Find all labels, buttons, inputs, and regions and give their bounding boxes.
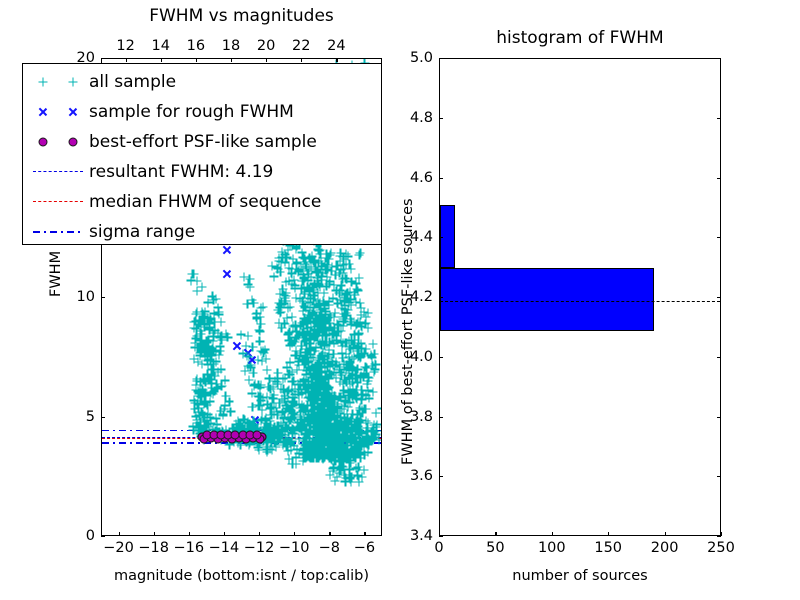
scatter-point-all-sample — [342, 377, 351, 386]
scatter-point-all-sample — [306, 287, 315, 296]
scatter-point-all-sample — [258, 347, 267, 356]
scatter-point-all-sample — [197, 327, 206, 336]
scatter-top-tick — [161, 58, 162, 62]
scatter-point-all-sample — [352, 386, 361, 395]
scatter-point-all-sample — [326, 313, 335, 322]
scatter-point-all-sample — [200, 318, 209, 327]
scatter-point-all-sample — [205, 375, 214, 384]
legend-entry: all sample — [27, 67, 381, 97]
scatter-point-all-sample — [316, 407, 325, 416]
scatter-point-all-sample — [321, 310, 330, 319]
scatter-point-all-sample — [304, 443, 313, 452]
scatter-point-all-sample — [344, 464, 353, 473]
scatter-point-all-sample — [289, 322, 298, 331]
scatter-point-all-sample — [212, 420, 221, 429]
scatter-point-all-sample — [265, 416, 274, 425]
scatter-point-all-sample — [308, 402, 317, 411]
scatter-point-all-sample — [321, 408, 330, 417]
scatter-point-all-sample — [329, 330, 338, 339]
scatter-point-all-sample — [318, 448, 327, 457]
scatter-point-all-sample — [352, 445, 361, 454]
scatter-point-all-sample — [333, 443, 342, 452]
scatter-point-all-sample — [307, 354, 316, 363]
scatter-point-all-sample — [339, 317, 348, 326]
scatter-point-all-sample — [323, 448, 332, 457]
scatter-point-all-sample — [215, 351, 224, 360]
scatter-point-all-sample — [299, 450, 308, 459]
scatter-point-all-sample — [364, 419, 373, 428]
scatter-point-all-sample — [307, 263, 316, 272]
scatter-point-all-sample — [318, 424, 327, 433]
scatter-top-tick-label: 24 — [327, 38, 345, 54]
scatter-point-all-sample — [314, 383, 323, 392]
scatter-point-all-sample — [311, 346, 320, 355]
scatter-point-all-sample — [304, 294, 313, 303]
scatter-point-all-sample — [356, 450, 365, 459]
scatter-point-all-sample — [349, 317, 358, 326]
scatter-point-all-sample — [285, 341, 294, 350]
scatter-point-all-sample — [340, 297, 349, 306]
scatter-point-all-sample — [262, 448, 271, 457]
scatter-point-all-sample — [337, 419, 346, 428]
scatter-point-all-sample — [308, 380, 317, 389]
scatter-point-all-sample — [335, 431, 344, 440]
scatter-point-all-sample — [341, 420, 350, 429]
scatter-point-all-sample — [323, 398, 332, 407]
scatter-point-all-sample — [317, 272, 326, 281]
scatter-point-all-sample — [285, 328, 294, 337]
scatter-point-all-sample — [196, 340, 205, 349]
scatter-point-all-sample — [317, 395, 326, 404]
scatter-point-all-sample — [194, 403, 203, 412]
scatter-point-all-sample — [326, 413, 335, 422]
scatter-point-all-sample — [204, 360, 213, 369]
scatter-point-all-sample — [326, 419, 335, 428]
scatter-point-all-sample — [312, 299, 321, 308]
scatter-point-all-sample — [309, 328, 318, 337]
scatter-point-all-sample — [302, 416, 311, 425]
scatter-point-all-sample — [317, 396, 326, 405]
scatter-point-all-sample — [278, 419, 287, 428]
scatter-point-all-sample — [323, 405, 332, 414]
scatter-point-all-sample — [355, 298, 364, 307]
scatter-point-all-sample — [247, 296, 256, 305]
histogram-y-tick — [439, 417, 443, 418]
scatter-point-all-sample — [287, 269, 296, 278]
scatter-point-all-sample — [327, 371, 336, 380]
scatter-point-all-sample — [357, 385, 366, 394]
scatter-point-all-sample — [262, 415, 271, 424]
scatter-point-all-sample — [300, 450, 309, 459]
scatter-point-all-sample — [204, 346, 213, 355]
scatter-point-all-sample — [193, 400, 202, 409]
scatter-point-all-sample — [304, 417, 313, 426]
scatter-point-all-sample — [321, 374, 330, 383]
scatter-point-all-sample — [265, 445, 274, 454]
scatter-point-all-sample — [315, 358, 324, 367]
scatter-point-all-sample — [331, 424, 340, 433]
scatter-point-all-sample — [307, 401, 316, 410]
scatter-point-all-sample — [195, 351, 204, 360]
scatter-point-all-sample — [326, 248, 335, 257]
scatter-point-all-sample — [340, 305, 349, 314]
scatter-point-all-sample — [329, 360, 338, 369]
scatter-point-all-sample — [235, 419, 244, 428]
scatter-point-all-sample — [312, 409, 321, 418]
scatter-point-all-sample — [305, 339, 314, 348]
scatter-point-all-sample — [318, 454, 327, 463]
scatter-point-all-sample — [327, 266, 336, 275]
scatter-point-all-sample — [298, 277, 307, 286]
scatter-point-all-sample — [305, 254, 314, 263]
scatter-point-all-sample — [259, 394, 268, 403]
scatter-point-all-sample — [343, 387, 352, 396]
scatter-point-all-sample — [205, 318, 214, 327]
scatter-point-all-sample — [333, 473, 342, 482]
scatter-point-all-sample — [339, 268, 348, 277]
scatter-point-all-sample — [356, 318, 365, 327]
scatter-point-all-sample — [256, 397, 265, 406]
scatter-point-all-sample — [315, 312, 324, 321]
scatter-point-all-sample — [308, 255, 317, 264]
scatter-point-all-sample — [192, 277, 201, 286]
scatter-point-all-sample — [341, 250, 350, 259]
scatter-point-all-sample — [225, 397, 234, 406]
scatter-point-all-sample — [322, 373, 331, 382]
scatter-point-all-sample — [341, 421, 350, 430]
scatter-point-all-sample — [209, 332, 218, 341]
scatter-point-all-sample — [288, 413, 297, 422]
scatter-point-all-sample — [197, 407, 206, 416]
scatter-point-all-sample — [284, 427, 293, 436]
scatter-point-all-sample — [352, 321, 361, 330]
scatter-point-all-sample — [360, 405, 369, 414]
scatter-point-all-sample — [306, 407, 315, 416]
scatter-point-all-sample — [303, 324, 312, 333]
scatter-point-all-sample — [315, 246, 324, 255]
scatter-point-all-sample — [325, 251, 334, 260]
scatter-point-all-sample — [292, 459, 301, 468]
scatter-point-all-sample — [310, 333, 319, 342]
scatter-point-all-sample — [322, 388, 331, 397]
scatter-point-all-sample — [321, 380, 330, 389]
scatter-point-all-sample — [315, 444, 324, 453]
scatter-point-all-sample — [189, 270, 198, 279]
scatter-point-all-sample — [317, 372, 326, 381]
scatter-point-all-sample — [322, 450, 331, 459]
scatter-point-all-sample — [322, 282, 331, 291]
scatter-point-all-sample — [346, 375, 355, 384]
scatter-point-all-sample — [342, 338, 351, 347]
scatter-point-all-sample — [306, 294, 315, 303]
scatter-point-all-sample — [352, 393, 361, 402]
scatter-point-all-sample — [363, 386, 372, 395]
scatter-point-all-sample — [302, 353, 311, 362]
scatter-point-all-sample — [315, 328, 324, 337]
scatter-point-all-sample — [321, 391, 330, 400]
scatter-point-all-sample — [315, 280, 324, 289]
scatter-point-all-sample — [324, 279, 333, 288]
scatter-point-all-sample — [328, 448, 337, 457]
scatter-point-all-sample — [287, 313, 296, 322]
scatter-point-all-sample — [364, 374, 373, 383]
scatter-point-all-sample — [319, 413, 328, 422]
scatter-point-all-sample — [301, 287, 310, 296]
scatter-point-all-sample — [354, 418, 363, 427]
scatter-point-all-sample — [311, 374, 320, 383]
scatter-point-all-sample — [300, 314, 309, 323]
scatter-point-all-sample — [276, 268, 285, 277]
scatter-point-all-sample — [320, 362, 329, 371]
scatter-x-tick — [154, 532, 155, 536]
scatter-point-all-sample — [215, 427, 224, 436]
scatter-point-all-sample — [290, 409, 299, 418]
scatter-point-all-sample — [317, 322, 326, 331]
scatter-point-all-sample — [262, 392, 271, 401]
scatter-point-all-sample — [229, 424, 238, 433]
scatter-point-all-sample — [330, 392, 339, 401]
scatter-point-all-sample — [309, 256, 318, 265]
scatter-point-all-sample — [338, 449, 347, 458]
scatter-point-all-sample — [305, 298, 314, 307]
scatter-point-all-sample — [214, 307, 223, 316]
scatter-point-all-sample — [253, 443, 262, 452]
scatter-point-all-sample — [309, 257, 318, 266]
scatter-point-all-sample — [314, 403, 323, 412]
scatter-point-all-sample — [211, 357, 220, 366]
scatter-point-all-sample — [344, 452, 353, 461]
scatter-point-all-sample — [204, 326, 213, 335]
scatter-point-all-sample — [203, 400, 212, 409]
scatter-point-all-sample — [307, 454, 316, 463]
scatter-point-all-sample — [341, 293, 350, 302]
scatter-point-all-sample — [322, 390, 331, 399]
scatter-point-all-sample — [314, 443, 323, 452]
filled-circle-icon — [39, 138, 48, 147]
scatter-point-all-sample — [317, 450, 326, 459]
scatter-point-all-sample — [317, 276, 326, 285]
scatter-point-all-sample — [315, 305, 324, 314]
scatter-point-all-sample — [316, 354, 325, 363]
scatter-point-all-sample — [311, 414, 320, 423]
scatter-point-all-sample — [296, 294, 305, 303]
scatter-point-all-sample — [298, 415, 307, 424]
scatter-point-all-sample — [263, 445, 272, 454]
scatter-point-all-sample — [201, 307, 210, 316]
scatter-point-all-sample — [199, 340, 208, 349]
scatter-point-all-sample — [343, 418, 352, 427]
scatter-point-all-sample — [352, 342, 361, 351]
scatter-top-tick — [336, 58, 337, 62]
scatter-point-all-sample — [315, 405, 324, 414]
scatter-point-all-sample — [310, 399, 319, 408]
scatter-point-all-sample — [313, 273, 322, 282]
histogram-x-tick — [721, 532, 722, 536]
scatter-point-all-sample — [342, 365, 351, 374]
scatter-point-all-sample — [316, 411, 325, 420]
scatter-point-all-sample — [299, 270, 308, 279]
histogram-plot-area — [440, 59, 720, 535]
scatter-point-all-sample — [325, 319, 334, 328]
scatter-point-all-sample — [348, 366, 357, 375]
scatter-point-all-sample — [347, 265, 356, 274]
scatter-point-all-sample — [312, 369, 321, 378]
scatter-point-all-sample — [272, 263, 281, 272]
scatter-top-tick-label: 14 — [151, 38, 169, 54]
scatter-point-all-sample — [233, 416, 242, 425]
scatter-point-all-sample — [190, 324, 199, 333]
scatter-point-all-sample — [268, 394, 277, 403]
scatter-point-all-sample — [326, 470, 335, 479]
scatter-point-all-sample — [340, 386, 349, 395]
scatter-point-all-sample — [270, 272, 279, 281]
scatter-point-all-sample — [342, 260, 351, 269]
scatter-point-all-sample — [283, 387, 292, 396]
scatter-point-all-sample — [360, 450, 369, 459]
scatter-point-all-sample — [354, 415, 363, 424]
scatter-plot-title: FWHM vs magnitudes — [101, 6, 382, 26]
scatter-point-all-sample — [337, 462, 346, 471]
scatter-point-all-sample — [294, 332, 303, 341]
scatter-point-all-sample — [200, 398, 209, 407]
scatter-x-tick-label: −6 — [354, 540, 375, 556]
histogram-x-tick-label: 100 — [538, 540, 566, 556]
scatter-point-all-sample — [329, 402, 338, 411]
scatter-point-all-sample — [329, 350, 338, 359]
scatter-point-all-sample — [314, 296, 323, 305]
scatter-point-all-sample — [312, 268, 321, 277]
scatter-point-all-sample — [318, 338, 327, 347]
scatter-point-all-sample — [350, 452, 359, 461]
scatter-point-all-sample — [319, 348, 328, 357]
scatter-point-all-sample — [247, 360, 256, 369]
scatter-point-all-sample — [347, 301, 356, 310]
scatter-point-all-sample — [300, 379, 309, 388]
scatter-point-all-sample — [303, 383, 312, 392]
scatter-point-all-sample — [317, 369, 326, 378]
scatter-point-all-sample — [216, 406, 225, 415]
scatter-point-all-sample — [298, 248, 307, 257]
scatter-point-all-sample — [356, 449, 365, 458]
scatter-point-all-sample — [330, 445, 339, 454]
scatter-point-all-sample — [205, 326, 214, 335]
scatter-point-all-sample — [284, 329, 293, 338]
scatter-point-all-sample — [338, 342, 347, 351]
scatter-point-all-sample — [336, 466, 345, 475]
scatter-point-all-sample — [317, 322, 326, 331]
scatter-point-all-sample — [290, 338, 299, 347]
scatter-point-all-sample — [355, 351, 364, 360]
scatter-point-all-sample — [353, 365, 362, 374]
scatter-point-all-sample — [321, 449, 330, 458]
scatter-point-all-sample — [302, 453, 311, 462]
scatter-point-all-sample — [209, 347, 218, 356]
scatter-point-all-sample — [320, 394, 329, 403]
scatter-point-all-sample — [319, 420, 328, 429]
scatter-point-all-sample — [304, 411, 313, 420]
scatter-top-tick-label: 12 — [116, 38, 134, 54]
scatter-point-all-sample — [343, 413, 352, 422]
scatter-point-all-sample — [194, 392, 203, 401]
scatter-point-all-sample — [302, 447, 311, 456]
scatter-point-all-sample — [256, 346, 265, 355]
scatter-point-all-sample — [209, 365, 218, 374]
scatter-point-all-sample — [306, 380, 315, 389]
scatter-point-all-sample — [346, 478, 355, 487]
scatter-point-all-sample — [324, 314, 333, 323]
scatter-point-all-sample — [284, 264, 293, 273]
scatter-point-all-sample — [356, 372, 365, 381]
scatter-point-all-sample — [320, 380, 329, 389]
scatter-point-all-sample — [305, 427, 314, 436]
scatter-point-all-sample — [283, 393, 292, 402]
scatter-point-all-sample — [339, 365, 348, 374]
scatter-point-all-sample — [344, 403, 353, 412]
scatter-point-all-sample — [343, 453, 352, 462]
scatter-point-all-sample — [301, 443, 310, 452]
scatter-point-all-sample — [326, 310, 335, 319]
scatter-point-all-sample — [329, 420, 338, 429]
scatter-point-all-sample — [300, 444, 309, 453]
scatter-top-tick-label: 16 — [187, 38, 205, 54]
scatter-point-all-sample — [312, 344, 321, 353]
scatter-point-all-sample — [344, 450, 353, 459]
scatter-point-all-sample — [336, 457, 345, 466]
scatter-point-all-sample — [309, 291, 318, 300]
scatter-point-all-sample — [253, 309, 262, 318]
histogram-plot-title: histogram of FWHM — [439, 28, 721, 48]
scatter-point-all-sample — [309, 382, 318, 391]
plus-icon — [39, 78, 48, 87]
scatter-point-all-sample — [329, 467, 338, 476]
scatter-point-all-sample — [323, 389, 332, 398]
scatter-point-all-sample — [300, 260, 309, 269]
scatter-point-all-sample — [329, 446, 338, 455]
scatter-point-all-sample — [353, 416, 362, 425]
scatter-point-all-sample — [316, 299, 325, 308]
scatter-point-all-sample — [291, 351, 300, 360]
scatter-point-all-sample — [323, 413, 332, 422]
scatter-point-all-sample — [213, 329, 222, 338]
scatter-point-all-sample — [208, 337, 217, 346]
scatter-point-all-sample — [350, 338, 359, 347]
scatter-point-all-sample — [315, 382, 324, 391]
scatter-point-all-sample — [247, 421, 256, 430]
scatter-point-all-sample — [228, 424, 237, 433]
scatter-point-all-sample — [336, 393, 345, 402]
scatter-point-all-sample — [331, 262, 340, 271]
scatter-point-all-sample — [333, 361, 342, 370]
scatter-point-all-sample — [370, 368, 379, 377]
scatter-point-all-sample — [296, 320, 305, 329]
scatter-point-all-sample — [273, 265, 282, 274]
scatter-point-all-sample — [281, 249, 290, 258]
scatter-point-all-sample — [270, 376, 279, 385]
scatter-point-all-sample — [347, 447, 356, 456]
scatter-point-all-sample — [314, 318, 323, 327]
scatter-point-all-sample — [331, 456, 340, 465]
scatter-point-all-sample — [299, 253, 308, 262]
scatter-point-all-sample — [274, 298, 283, 307]
scatter-point-all-sample — [250, 420, 259, 429]
scatter-point-all-sample — [200, 388, 209, 397]
scatter-point-all-sample — [312, 262, 321, 271]
scatter-point-all-sample — [204, 349, 213, 358]
scatter-point-all-sample — [262, 418, 271, 427]
scatter-point-all-sample — [318, 417, 327, 426]
scatter-point-all-sample — [329, 450, 338, 459]
scatter-point-all-sample — [357, 310, 366, 319]
